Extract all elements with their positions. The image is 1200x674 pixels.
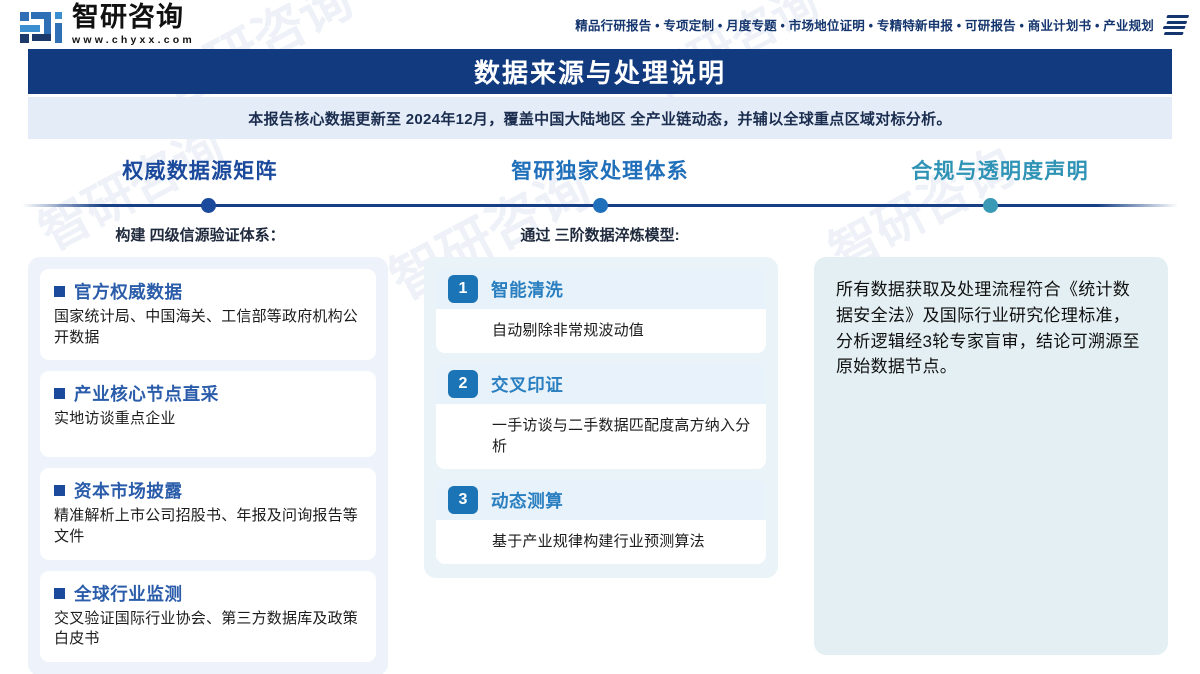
data-source-panel: 官方权威数据 国家统计局、中国海关、工信部等政府机构公开数据 产业核心节点直采 …: [28, 257, 388, 674]
page-title: 数据来源与处理说明: [474, 53, 726, 90]
timeline-dot-3: [983, 198, 998, 213]
column-captions: 构建 四级信源验证体系： 通过 三阶数据淬炼模型:: [0, 224, 1200, 245]
source-card-desc: 交叉验证国际行业协会、第三方数据库及政策白皮书: [54, 609, 362, 650]
process-step-desc: 一手访谈与二手数据匹配度高方纳入分析: [436, 404, 766, 457]
compliance-statement-text: 所有数据获取及处理流程符合《统计数据安全法》及国际行业研究伦理标准，分析逻辑经3…: [836, 277, 1146, 380]
column-heading-2: 智研独家处理体系: [400, 155, 800, 185]
process-step-card[interactable]: 3 动态测算 基于产业规律构建行业预测算法: [436, 480, 766, 564]
source-card-desc: 实地访谈重点企业: [54, 409, 362, 430]
process-step-title: 交叉印证: [491, 372, 563, 397]
top-bar: 智研咨询 www.chyxx.com 精品行研报告 • 专项定制 • 月度专题 …: [0, 0, 1200, 49]
process-step-desc: 基于产业规律构建行业预测算法: [436, 520, 766, 552]
process-step-desc: 自动剔除非常规波动值: [436, 309, 766, 341]
source-card-desc: 精准解析上市公司招股书、年报及问询报告等文件: [54, 506, 362, 547]
source-card-title: 官方权威数据: [74, 279, 183, 304]
report-slide: 智研咨询 智研咨询 智研咨询 智研咨询 智研咨询 智研咨询 智研咨询 智研咨询: [0, 0, 1200, 674]
column-caption-3: [800, 224, 1200, 245]
caption-text: 构建 四级信源验证体系：: [115, 227, 284, 244]
process-step-header: 2 交叉印证: [436, 364, 766, 404]
timeline-dot-2: [593, 198, 608, 213]
brand-logo[interactable]: 智研咨询 www.chyxx.com: [18, 4, 195, 46]
column-caption-1: 构建 四级信源验证体系：: [0, 224, 400, 245]
source-card-header: 产业核心节点直采: [54, 381, 362, 406]
processing-system-panel: 1 智能清洗 自动剔除非常规波动值 2 交叉印证 一手访谈与二手数据匹配度高方纳…: [424, 257, 778, 578]
page-subtitle: 本报告核心数据更新至 2024年12月，覆盖中国大陆地区 全产业链动态，并辅以全…: [248, 108, 951, 129]
compliance-statement-panel: 所有数据获取及处理流程符合《统计数据安全法》及国际行业研究伦理标准，分析逻辑经3…: [814, 257, 1168, 655]
source-card[interactable]: 资本市场披露 精准解析上市公司招股书、年报及问询报告等文件: [40, 468, 376, 559]
source-card[interactable]: 官方权威数据 国家统计局、中国海关、工信部等政府机构公开数据: [40, 269, 376, 360]
top-nav-area: 精品行研报告 • 专项定制 • 月度专题 • 市场地位证明 • 专精特新申报 •…: [575, 15, 1190, 35]
column-heading-1: 权威数据源矩阵: [0, 155, 400, 185]
process-step-header: 1 智能清洗: [436, 269, 766, 309]
source-card-title: 全球行业监测: [74, 581, 183, 606]
title-banner: 数据来源与处理说明: [28, 49, 1172, 94]
timeline-dot-1: [201, 198, 216, 213]
column-heading-3: 合规与透明度声明: [800, 155, 1200, 185]
layers-stack-icon[interactable]: [1161, 15, 1189, 35]
column-title: 合规与透明度声明: [800, 155, 1200, 185]
source-card[interactable]: 全球行业监测 交叉验证国际行业协会、第三方数据库及政策白皮书: [40, 571, 376, 662]
source-card-header: 官方权威数据: [54, 279, 362, 304]
square-bullet-icon: [54, 286, 65, 297]
square-bullet-icon: [54, 485, 65, 496]
source-card-desc: 国家统计局、中国海关、工信部等政府机构公开数据: [54, 307, 362, 348]
process-step-card[interactable]: 2 交叉印证 一手访谈与二手数据匹配度高方纳入分析: [436, 364, 766, 469]
caption-text: 通过 三阶数据淬炼模型:: [520, 227, 679, 244]
source-card[interactable]: 产业核心节点直采 实地访谈重点企业: [40, 371, 376, 457]
source-card-header: 全球行业监测: [54, 581, 362, 606]
process-step-header: 3 动态测算: [436, 480, 766, 520]
brand-url: www.chyxx.com: [72, 34, 195, 46]
column-headings: 权威数据源矩阵 智研独家处理体系 合规与透明度声明: [0, 155, 1200, 185]
column-title: 权威数据源矩阵: [0, 155, 400, 185]
step-number-badge: 2: [448, 370, 478, 398]
source-card-title: 资本市场披露: [74, 478, 183, 503]
step-number-badge: 3: [448, 486, 478, 514]
source-card-title: 产业核心节点直采: [74, 381, 219, 406]
source-card-header: 资本市场披露: [54, 478, 362, 503]
square-bullet-icon: [54, 588, 65, 599]
process-step-card[interactable]: 1 智能清洗 自动剔除非常规波动值: [436, 269, 766, 353]
content-columns: 官方权威数据 国家统计局、中国海关、工信部等政府机构公开数据 产业核心节点直采 …: [0, 257, 1200, 674]
subtitle-band: 本报告核心数据更新至 2024年12月，覆盖中国大陆地区 全产业链动态，并辅以全…: [28, 97, 1172, 139]
chyxx-logo-icon: [18, 8, 64, 46]
column-title: 智研独家处理体系: [400, 155, 800, 185]
process-step-title: 动态测算: [491, 488, 563, 513]
column-caption-2: 通过 三阶数据淬炼模型:: [400, 224, 800, 245]
timeline-divider: [0, 195, 1200, 215]
top-nav-text[interactable]: 精品行研报告 • 专项定制 • 月度专题 • 市场地位证明 • 专精特新申报 •…: [575, 15, 1154, 34]
process-step-title: 智能清洗: [491, 277, 563, 302]
step-number-badge: 1: [448, 275, 478, 303]
square-bullet-icon: [54, 388, 65, 399]
brand-name: 智研咨询: [72, 4, 195, 31]
